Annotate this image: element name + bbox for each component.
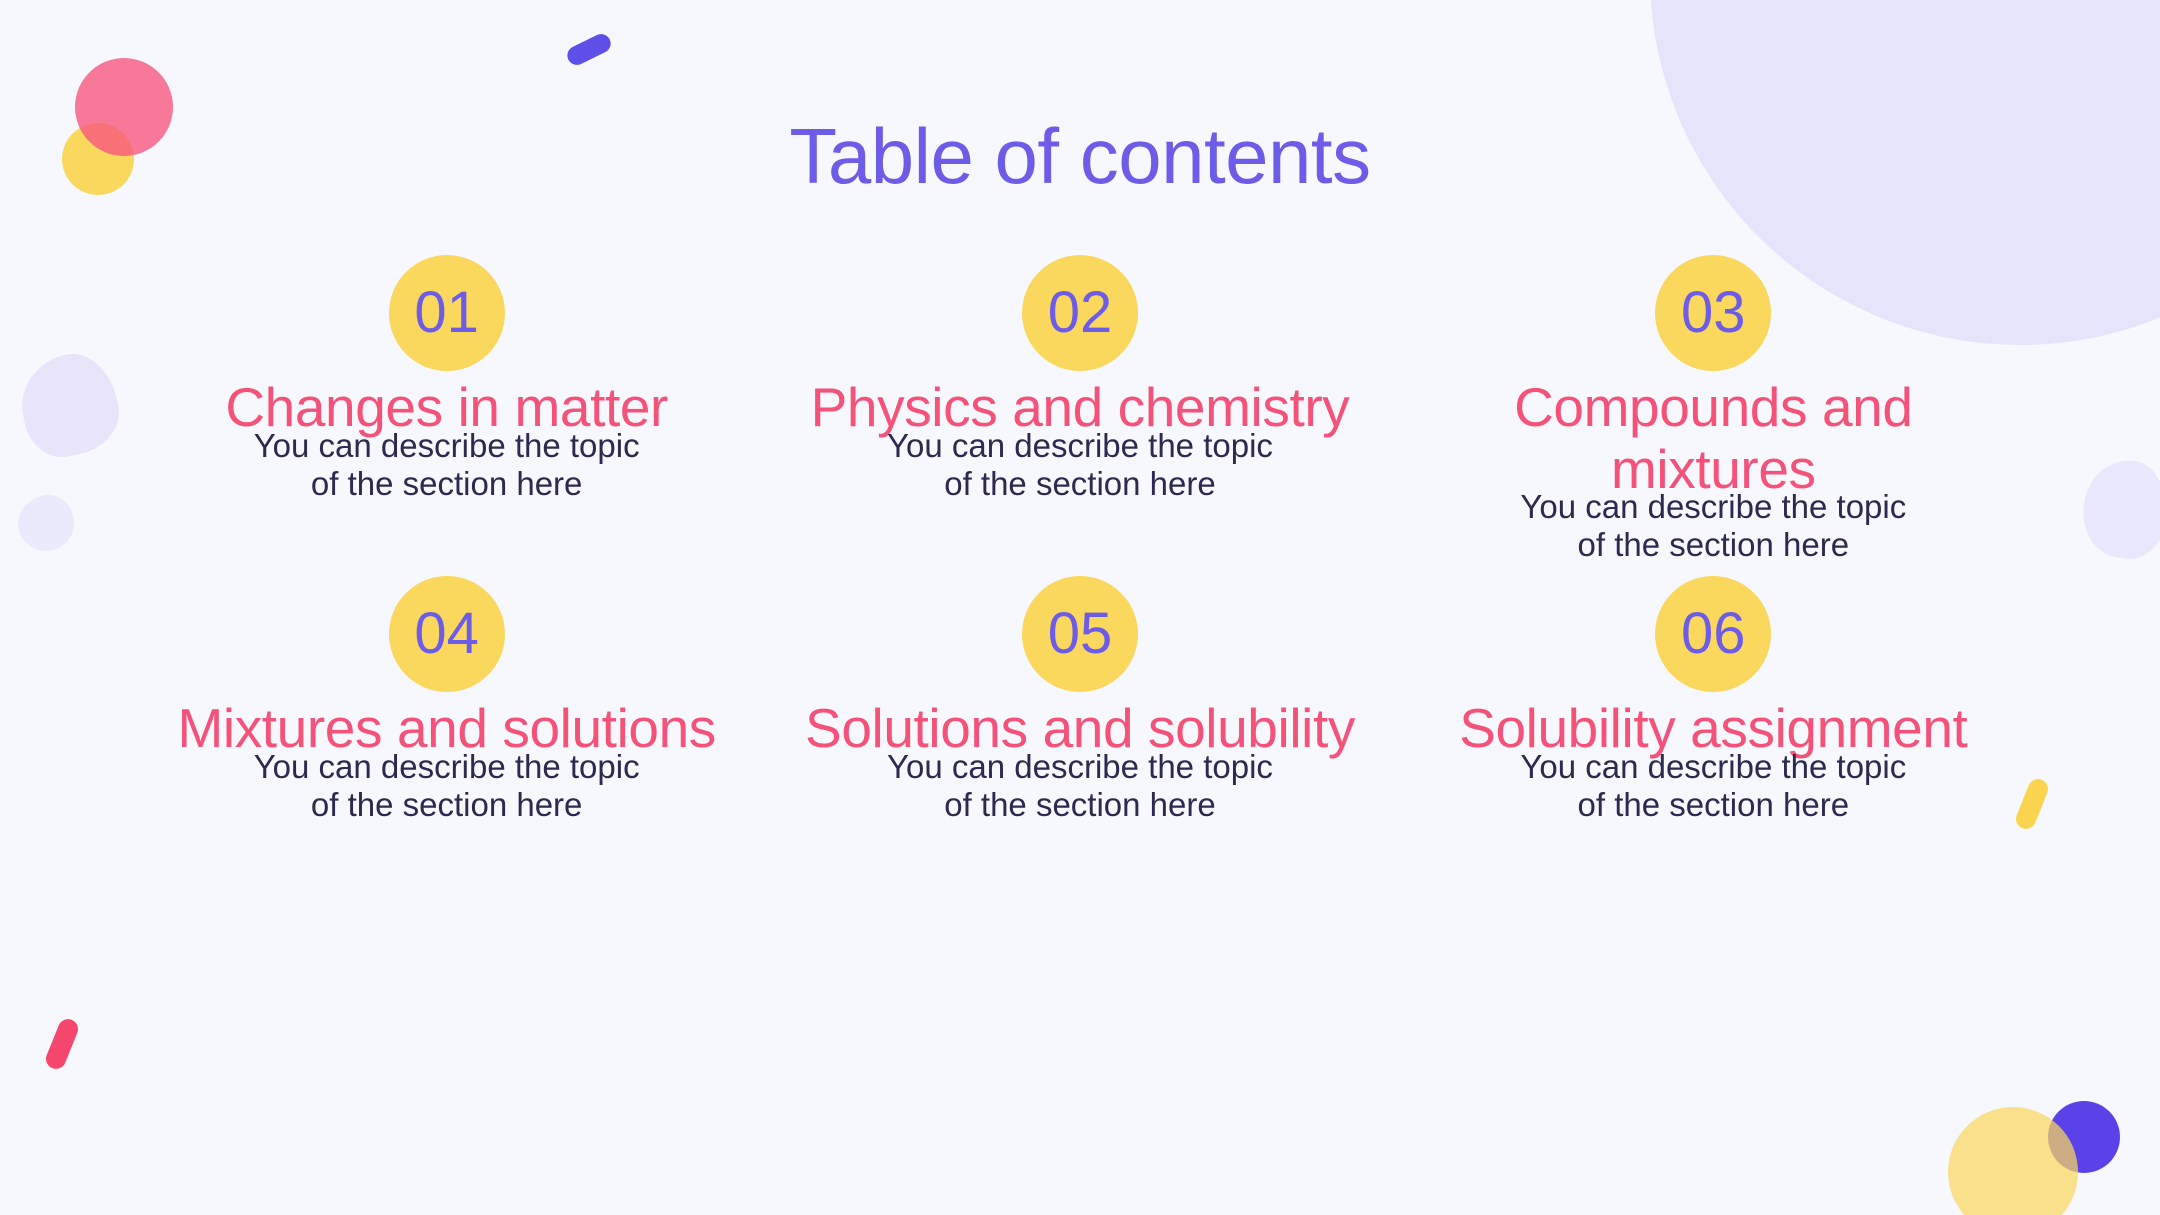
toc-item-04[interactable]: 04 Mixtures and solutions You can descri… (160, 569, 733, 823)
section-number-badge-02: 02 (1022, 255, 1138, 371)
section-description-02: You can describe the topic of the sectio… (875, 427, 1285, 503)
section-description-01: You can describe the topic of the sectio… (242, 427, 652, 503)
section-description-04: You can describe the topic of the sectio… (242, 748, 652, 824)
section-description-03: You can describe the topic of the sectio… (1508, 488, 1918, 564)
section-number-badge-03: 03 (1655, 255, 1771, 371)
section-heading-03: Compounds and mixtures (1427, 377, 2000, 500)
toc-item-05[interactable]: 05 Solutions and solubility You can desc… (793, 569, 1366, 823)
slide-canvas: Table of contents 01 Changes in matter Y… (0, 0, 2160, 1215)
section-description-06: You can describe the topic of the sectio… (1508, 748, 1918, 824)
table-of-contents-grid: 01 Changes in matter You can describe th… (160, 248, 2000, 824)
page-title: Table of contents (0, 117, 2160, 195)
section-description-05: You can describe the topic of the sectio… (875, 748, 1285, 824)
toc-item-03[interactable]: 03 Compounds and mixtures You can descri… (1427, 248, 2000, 564)
section-number-badge-06: 06 (1655, 576, 1771, 692)
section-number-badge-01: 01 (389, 255, 505, 371)
section-number-badge-04: 04 (389, 576, 505, 692)
toc-item-02[interactable]: 02 Physics and chemistry You can describ… (793, 248, 1366, 564)
section-number-badge-05: 05 (1022, 576, 1138, 692)
toc-item-01[interactable]: 01 Changes in matter You can describe th… (160, 248, 733, 564)
toc-item-06[interactable]: 06 Solubility assignment You can describ… (1427, 569, 2000, 823)
